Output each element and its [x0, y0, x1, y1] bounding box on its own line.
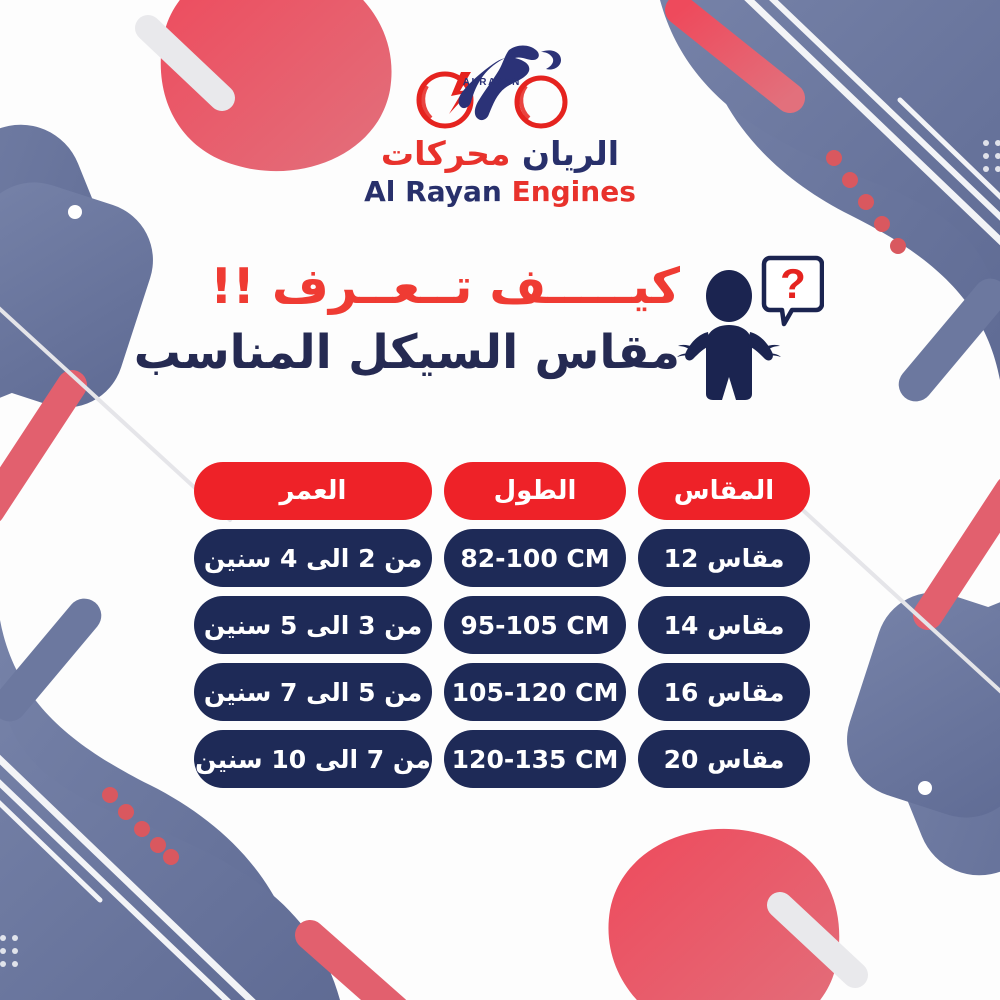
column-header-age: العمر [194, 462, 432, 520]
brand-name-arabic: الريان محركات [381, 136, 619, 173]
brand-name-en-red: Engines [512, 175, 636, 208]
cell-age: من 5 الى 7 سنين [194, 663, 432, 721]
question-mark-glyph: ? [780, 260, 806, 307]
speech-bubble-icon: ? [764, 258, 822, 324]
logo-wordmark: ALRAYAN [463, 77, 521, 88]
table-row: مقاس 12 82-100 CM من 2 الى 4 سنين [190, 529, 810, 587]
cell-size: مقاس 14 [638, 596, 810, 654]
brand-name-en-navy: Al Rayan [364, 175, 502, 208]
headline-line-1: كيـــــف تــعــرف !! [134, 262, 680, 311]
cell-length: 120-135 CM [444, 730, 626, 788]
brand-name-ar-navy: الريان [522, 134, 619, 173]
column-header-size: المقاس [638, 462, 810, 520]
cell-length: 95-105 CM [444, 596, 626, 654]
person-head [706, 270, 752, 322]
shrugging-person-question-icon: ? [672, 252, 824, 402]
column-header-length: الطول [444, 462, 626, 520]
cell-size: مقاس 20 [638, 730, 810, 788]
table-row: مقاس 16 105-120 CM من 5 الى 7 سنين [190, 663, 810, 721]
page-title: كيـــــف تــعــرف !! مقاس السيكل المناسب [134, 262, 680, 376]
poster-canvas: ALRAYAN الريان محركات Al Rayan Engines ك… [0, 0, 1000, 1000]
cell-length: 82-100 CM [444, 529, 626, 587]
cell-age: من 3 الى 5 سنين [194, 596, 432, 654]
cell-age: من 7 الى 10 سنين [194, 730, 432, 788]
brand-name-ar-red: محركات [381, 134, 511, 173]
table-row: مقاس 20 120-135 CM من 7 الى 10 سنين [190, 730, 810, 788]
table-header-row: المقاس الطول العمر [190, 462, 810, 520]
cyclist-logo-icon: ALRAYAN [405, 38, 595, 130]
bike-size-table: المقاس الطول العمر مقاس 12 82-100 CM من … [190, 462, 810, 788]
headline-line-2: مقاس السيكل المناسب [134, 329, 680, 376]
brand-name-english: Al Rayan Engines [364, 176, 636, 207]
cell-length: 105-120 CM [444, 663, 626, 721]
cell-size: مقاس 12 [638, 529, 810, 587]
cell-size: مقاس 16 [638, 663, 810, 721]
table-row: مقاس 14 95-105 CM من 3 الى 5 سنين [190, 596, 810, 654]
brand-logo: ALRAYAN الريان محركات Al Rayan Engines [0, 38, 1000, 207]
cell-age: من 2 الى 4 سنين [194, 529, 432, 587]
